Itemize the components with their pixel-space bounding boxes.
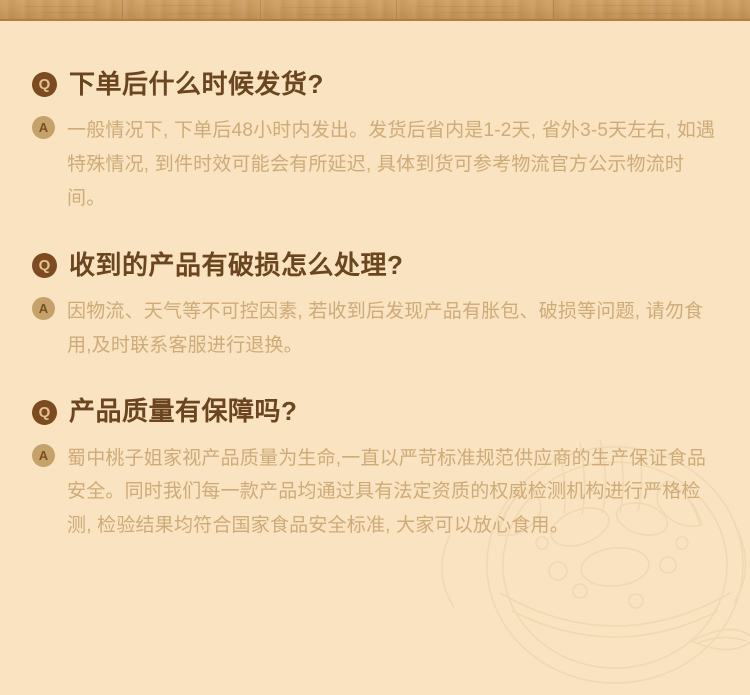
wood-texture-band bbox=[0, 0, 750, 21]
answer-badge-icon: A bbox=[32, 444, 55, 467]
question-badge-icon: Q bbox=[32, 72, 57, 97]
answer-badge-icon: A bbox=[32, 116, 55, 139]
faq-question-row: Q 收到的产品有破损怎么处理? bbox=[32, 250, 718, 281]
faq-question-text: 下单后什么时候发货? bbox=[69, 69, 324, 100]
question-badge-icon: Q bbox=[32, 400, 57, 425]
faq-question-text: 产品质量有保障吗? bbox=[69, 396, 297, 427]
question-badge-icon: Q bbox=[32, 253, 57, 278]
faq-answer-text: 一般情况下, 下单后48小时内发出。发货后省内是1-2天, 省外3-5天左右, … bbox=[67, 114, 718, 215]
faq-item: Q 产品质量有保障吗? A 蜀中桃子姐家视产品质量为生命,一直以严苛标准规范供应… bbox=[32, 396, 718, 543]
faq-question-row: Q 下单后什么时候发货? bbox=[32, 69, 718, 100]
faq-question-text: 收到的产品有破损怎么处理? bbox=[69, 250, 403, 281]
faq-answer-row: A 蜀中桃子姐家视产品质量为生命,一直以严苛标准规范供应商的生产保证食品安全。同… bbox=[32, 442, 718, 543]
faq-item: Q 下单后什么时候发货? A 一般情况下, 下单后48小时内发出。发货后省内是1… bbox=[32, 69, 718, 216]
faq-answer-text: 蜀中桃子姐家视产品质量为生命,一直以严苛标准规范供应商的生产保证食品安全。同时我… bbox=[67, 442, 718, 543]
faq-question-row: Q 产品质量有保障吗? bbox=[32, 396, 718, 427]
faq-answer-row: A 一般情况下, 下单后48小时内发出。发货后省内是1-2天, 省外3-5天左右… bbox=[32, 114, 718, 215]
faq-answer-text: 因物流、天气等不可控因素, 若收到后发现产品有胀包、破损等问题, 请勿食用,及时… bbox=[67, 295, 718, 363]
answer-badge-icon: A bbox=[32, 297, 55, 320]
faq-page: Q 下单后什么时候发货? A 一般情况下, 下单后48小时内发出。发货后省内是1… bbox=[0, 0, 750, 695]
faq-answer-row: A 因物流、天气等不可控因素, 若收到后发现产品有胀包、破损等问题, 请勿食用,… bbox=[32, 295, 718, 363]
faq-item: Q 收到的产品有破损怎么处理? A 因物流、天气等不可控因素, 若收到后发现产品… bbox=[32, 250, 718, 363]
faq-list: Q 下单后什么时候发货? A 一般情况下, 下单后48小时内发出。发货后省内是1… bbox=[0, 21, 750, 543]
